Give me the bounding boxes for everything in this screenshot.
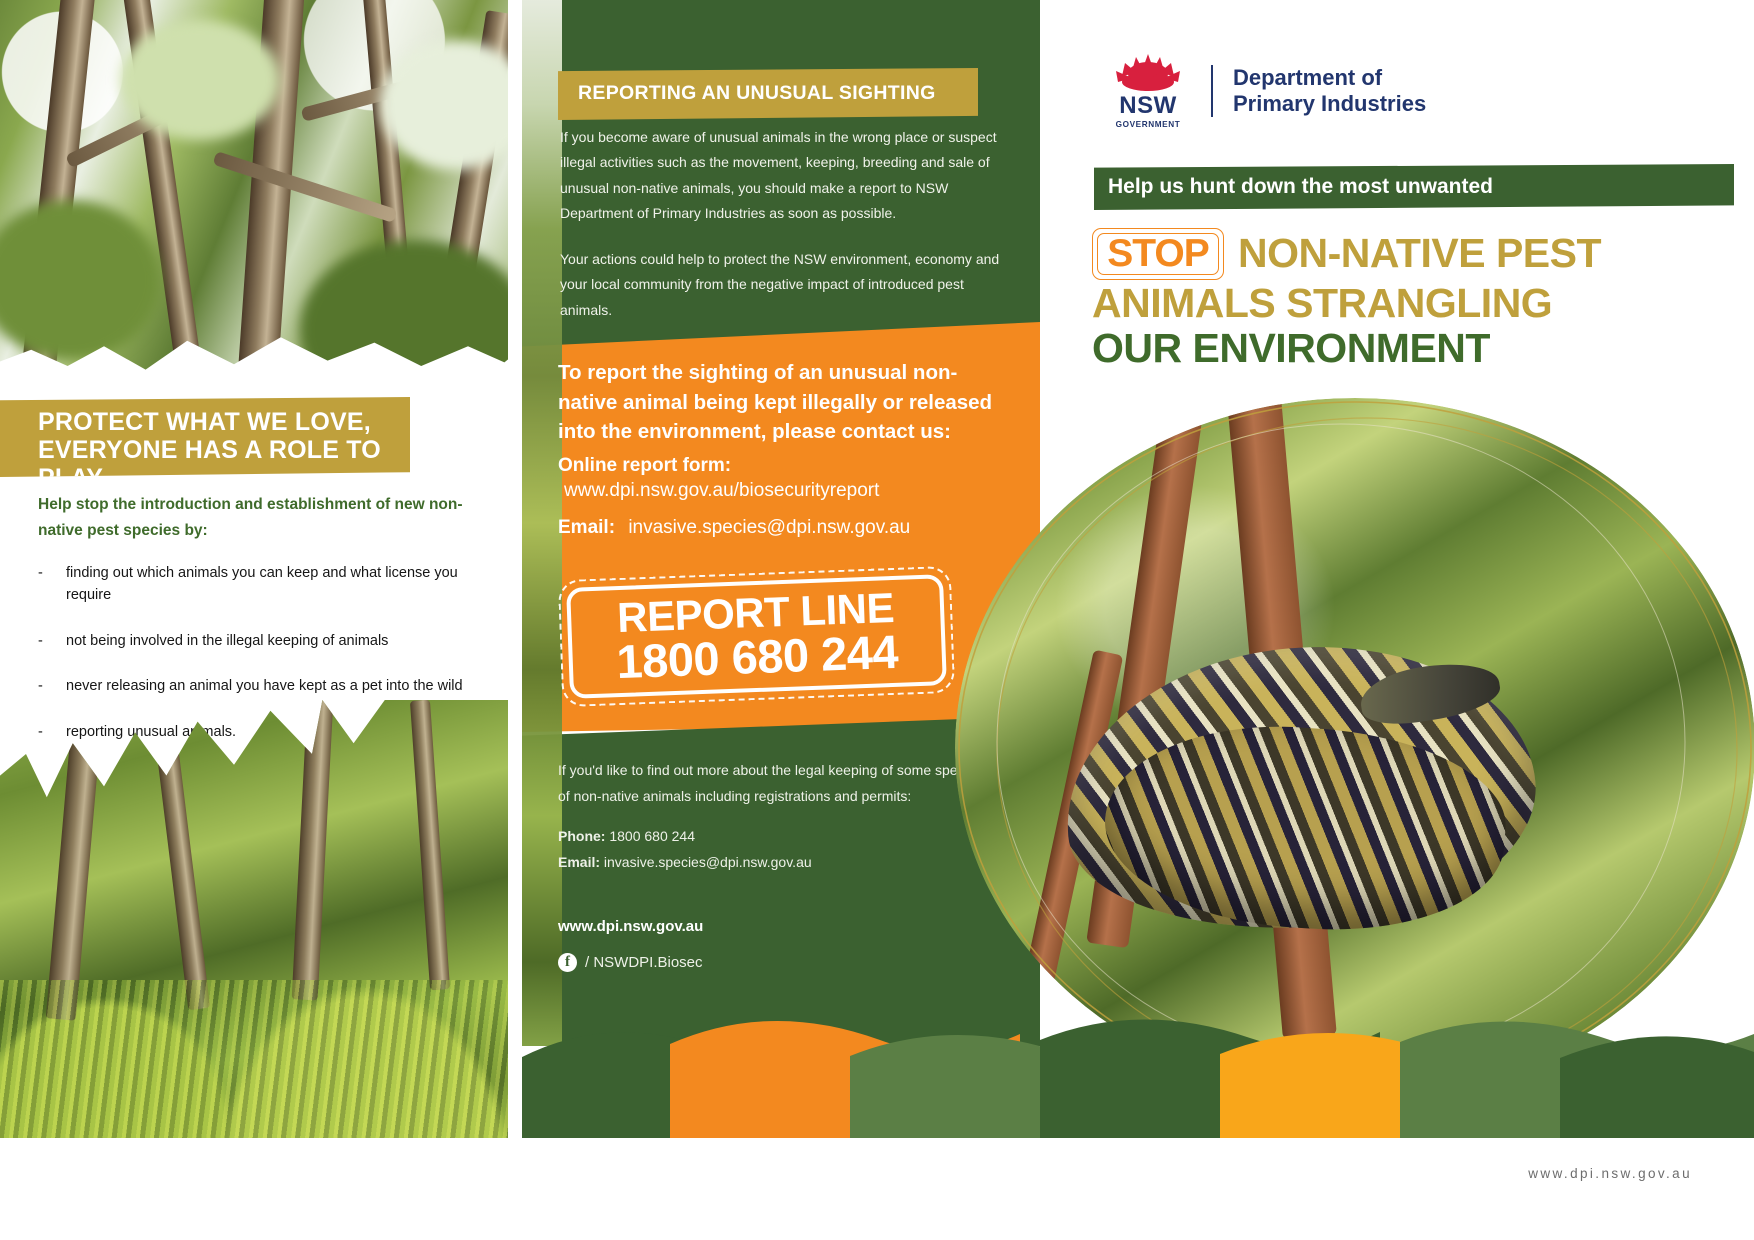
facebook-handle[interactable]: / NSWDPI.Biosec <box>585 954 703 971</box>
decorative-leaf-band <box>520 1000 1754 1140</box>
info-email-line: Email: invasive.species@dpi.nsw.gov.au <box>558 850 998 876</box>
stop-badge-text: STOP <box>1092 228 1224 280</box>
nsw-dpi-logo: NSW GOVERNMENT Department of Primary Ind… <box>1105 52 1426 129</box>
kicker-text: Help us hunt down the most unwanted <box>1094 164 1734 199</box>
list-item: - not being involved in the illegal keep… <box>38 631 498 653</box>
logo-divider <box>1211 65 1213 117</box>
more-info-paragraph: If you'd like to find out more about the… <box>558 758 998 810</box>
phone-label: Phone: <box>558 828 605 844</box>
bullet-dash: - <box>38 563 66 607</box>
forest-canopy-photo <box>0 0 520 400</box>
list-item: - finding out which animals you can keep… <box>38 563 498 607</box>
bullet-dash: - <box>38 676 66 698</box>
list-item-text: never releasing an animal you have kept … <box>66 676 463 698</box>
info-email-value[interactable]: invasive.species@dpi.nsw.gov.au <box>604 854 812 870</box>
department-line-1: Department of <box>1233 65 1426 91</box>
footer-url[interactable]: www.dpi.nsw.gov.au <box>0 1166 1754 1181</box>
nsw-government-subtext: GOVERNMENT <box>1105 120 1191 129</box>
kicker-band: Help us hunt down the most unwanted <box>1094 164 1734 210</box>
reporting-heading-band: REPORTING AN UNUSUAL SIGHTING <box>558 68 978 120</box>
main-headline: STOP NON-NATIVE PEST ANIMALS STRANGLING … <box>1092 228 1742 371</box>
department-name: Department of Primary Industries <box>1233 65 1426 117</box>
online-form-url[interactable]: www.dpi.nsw.gov.au/biosecurityreport <box>558 480 1018 502</box>
online-report-form-block: Online report form: www.dpi.nsw.gov.au/b… <box>558 455 1018 502</box>
list-item-text: finding out which animals you can keep a… <box>66 563 498 607</box>
nsw-wordmark: NSW <box>1105 94 1191 118</box>
dpi-website-link[interactable]: www.dpi.nsw.gov.au <box>558 918 703 935</box>
panel-fold-gap <box>508 0 522 1240</box>
online-form-label: Online report form: <box>558 455 1018 477</box>
snake-hero-photo <box>955 398 1754 1098</box>
info-email-label: Email: <box>558 854 600 870</box>
report-email-block: Email: invasive.species@dpi.nsw.gov.au <box>558 517 1028 539</box>
contact-us-heading: To report the sighting of an unusual non… <box>558 358 1013 447</box>
headline-line-3: OUR ENVIRONMENT <box>1092 327 1742 370</box>
facebook-icon: f <box>558 953 577 972</box>
reporting-paragraph-1: If you become aware of unusual animals i… <box>560 125 1010 227</box>
left-panel: PROTECT WHAT WE LOVE, EVERYONE HAS A ROL… <box>0 0 520 1240</box>
report-email-label: Email: <box>558 517 615 538</box>
stop-badge: STOP <box>1092 228 1224 280</box>
headline-line-1: NON-NATIVE PEST <box>1238 232 1601 275</box>
footer-bar <box>0 1138 1754 1240</box>
report-email-value[interactable]: invasive.species@dpi.nsw.gov.au <box>628 517 910 538</box>
report-line-stamp[interactable]: REPORT LINE 1800 680 244 <box>558 566 955 707</box>
photo-edge-strip <box>520 0 562 1046</box>
left-heading-line2: EVERYONE HAS A ROLE TO PLAY <box>38 436 381 492</box>
phone-line: Phone: 1800 680 244 <box>558 824 998 850</box>
nsw-government-mark: NSW GOVERNMENT <box>1105 52 1191 129</box>
brochure-page: PROTECT WHAT WE LOVE, EVERYONE HAS A ROL… <box>0 0 1754 1240</box>
more-info-block: If you'd like to find out more about the… <box>558 758 998 876</box>
facebook-row[interactable]: f / NSWDPI.Biosec <box>558 953 703 972</box>
bullet-dash: - <box>38 722 66 744</box>
waratah-flower-icon <box>1110 52 1186 92</box>
report-line-number: 1800 680 244 <box>616 629 899 685</box>
list-item-text: not being involved in the illegal keepin… <box>66 631 388 653</box>
bullet-dash: - <box>38 631 66 653</box>
left-heading-band: PROTECT WHAT WE LOVE, EVERYONE HAS A ROL… <box>0 397 410 477</box>
reporting-paragraph-2: Your actions could help to protect the N… <box>560 247 1015 323</box>
left-heading-line1: PROTECT WHAT WE LOVE, <box>38 408 371 436</box>
department-line-2: Primary Industries <box>1233 91 1426 117</box>
reporting-heading: REPORTING AN UNUSUAL SIGHTING <box>558 68 978 105</box>
list-item: - never releasing an animal you have kep… <box>38 676 498 698</box>
headline-line-2: ANIMALS STRANGLING <box>1092 282 1742 325</box>
left-lead-text: Help stop the introduction and establish… <box>38 492 498 543</box>
phone-value[interactable]: 1800 680 244 <box>609 828 695 844</box>
